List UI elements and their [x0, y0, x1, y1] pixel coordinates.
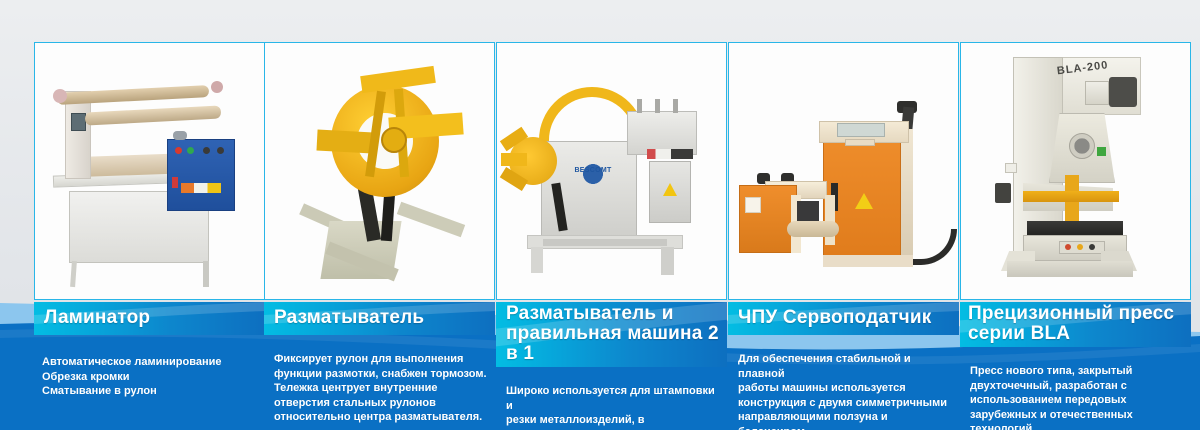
laminator-machine-photo [34, 42, 265, 300]
decoiler-straightener-machine-photo: BESCOMT [496, 42, 727, 300]
card-title-cnc-servo-feeder: ЧПУ Сервоподатчик [738, 308, 931, 328]
decoiler-straightener-title-banner: Разматыватель и правильная машина 2 в 1 [496, 302, 727, 367]
product-card-precision-press[interactable]: BLA-200 [960, 42, 1191, 430]
card-title-decoiler: Разматыватель [274, 308, 424, 328]
product-card-decoiler-straightener[interactable]: BESCOMT [496, 42, 727, 430]
precision-press-title-banner: Прецизионный пресс серии BLA [960, 302, 1191, 347]
card-title-precision-press: Прецизионный пресс серии BLA [968, 304, 1174, 344]
product-card-cnc-servo-feeder[interactable]: ЧПУ Сервоподатчик Для обеспечения стабил… [728, 42, 959, 430]
decoiler-title-banner: Разматыватель [264, 302, 495, 335]
cnc-servo-feeder-title-banner: ЧПУ Сервоподатчик [728, 302, 959, 335]
decoiler-machine-photo [264, 42, 495, 300]
card-title-laminator: Ламинатор [44, 308, 150, 328]
product-card-grid: Ламинатор Автоматическое ламинирование О… [0, 0, 1200, 430]
product-card-decoiler[interactable]: Разматыватель Фиксирует рулон для выполн… [264, 42, 495, 425]
cnc-servo-feeder-photo [728, 42, 959, 300]
card-title-decoiler-straightener: Разматыватель и правильная машина 2 в 1 [506, 304, 727, 364]
product-lineup-banner: Ламинатор Автоматическое ламинирование О… [0, 0, 1200, 430]
product-card-laminator[interactable]: Ламинатор Автоматическое ламинирование О… [34, 42, 265, 399]
card-description-cnc-servo-feeder: Для обеспечения стабильной и плавной раб… [728, 352, 959, 430]
card-description-laminator: Автоматическое ламинирование Обрезка кро… [34, 355, 265, 399]
card-description-decoiler: Фиксирует рулон для выполнения функции р… [264, 352, 495, 425]
card-description-precision-press: Пресс нового типа, закрытый двухточечный… [960, 364, 1191, 430]
laminator-title-banner: Ламинатор [34, 302, 265, 335]
bescomt-logo-text: BESCOMT [567, 167, 619, 181]
card-description-decoiler-straightener: Широко используется для штамповки и резк… [496, 384, 727, 430]
precision-press-photo: BLA-200 [960, 42, 1191, 300]
